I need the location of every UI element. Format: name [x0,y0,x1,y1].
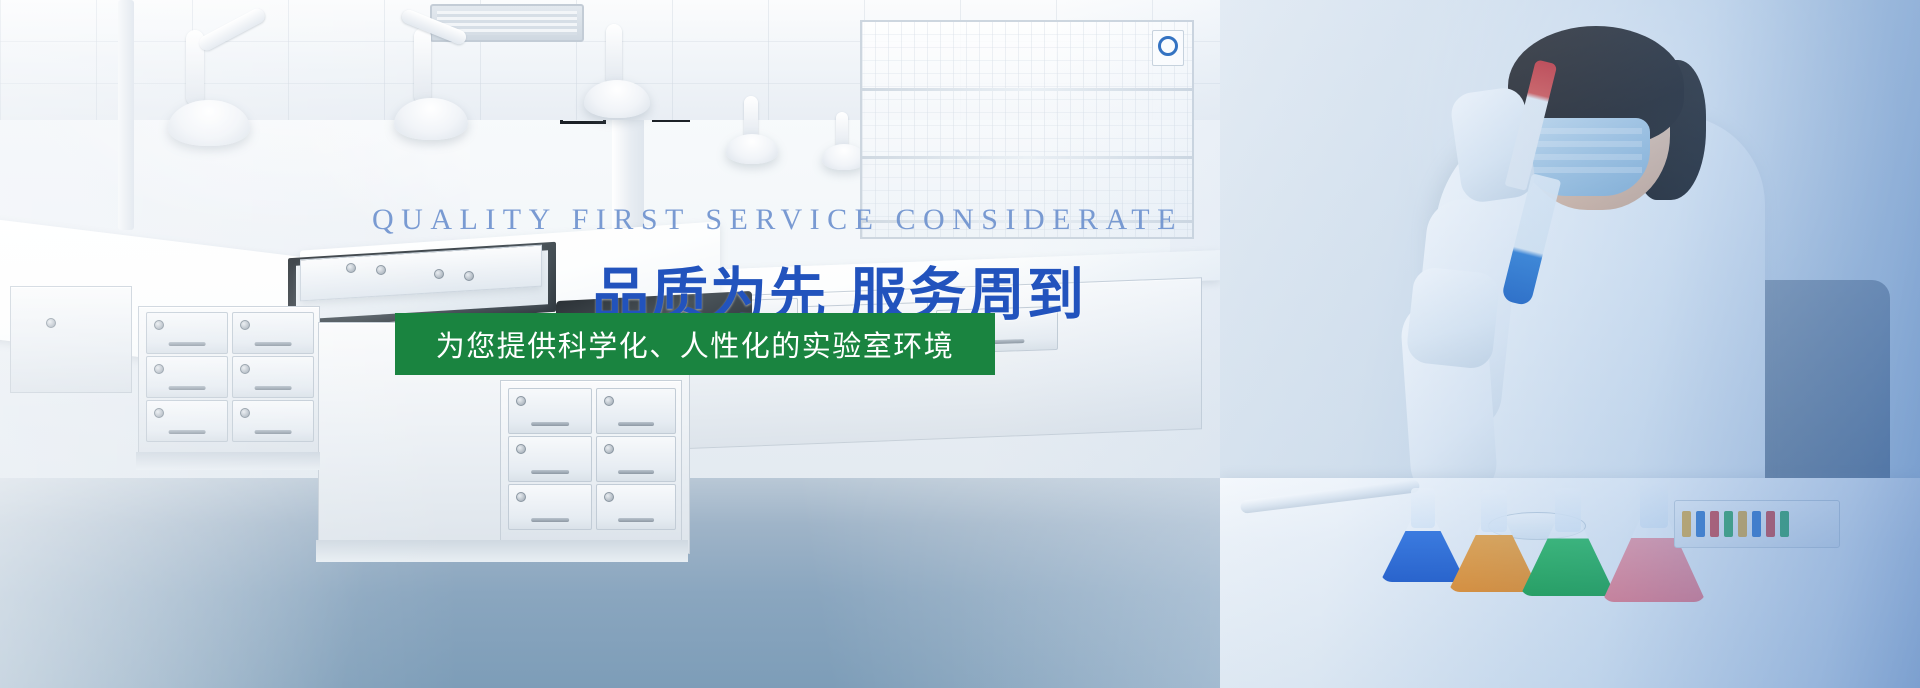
drawer-lock [154,408,164,418]
drawer-lock [516,396,526,406]
vial [1696,511,1705,537]
drawer [596,484,676,530]
vial [1752,511,1761,537]
drawer-lock [604,396,614,406]
banner-subtitle-text: 为您提供科学化、人性化的实验室环境 [436,323,955,365]
drawer [232,400,314,442]
bench-knob [346,263,356,273]
shelf-divider [862,156,1192,159]
flask-pink-neck [1640,482,1668,528]
drawer-lock [516,492,526,502]
drawer-lock [604,444,614,454]
hero-banner: QUALITY FIRST SERVICE CONSIDERATE 品质为先 服… [0,0,1920,688]
drawer [508,388,592,434]
drawer [508,484,592,530]
banner-eyebrow-text: QUALITY FIRST SERVICE CONSIDERATE [372,203,1032,237]
vial [1766,511,1775,537]
bench-knob [376,265,386,275]
drawer-lock [604,492,614,502]
vial-rack [1674,500,1840,548]
flask-orange-neck [1481,490,1507,532]
glove-lower [1405,266,1501,370]
vial [1724,511,1733,537]
drawer [146,312,228,354]
bench-toe-kick [316,540,688,562]
drawer-lock [240,408,250,418]
technician-scene [1220,0,1920,688]
shelf-divider [862,88,1192,91]
drawer [508,436,592,482]
banner-subtitle-bar: 为您提供科学化、人性化的实验室环境 [395,313,995,375]
vial [1710,511,1719,537]
vial [1738,511,1747,537]
drawer [596,388,676,434]
bench-toe-kick [136,452,320,470]
drawer [596,436,676,482]
drawer [146,356,228,398]
drawer [232,356,314,398]
drawer-lock [240,320,250,330]
fume-hood [726,134,778,164]
extraction-arm [414,28,431,104]
drawer-lock [154,320,164,330]
flask-blue-neck [1411,488,1435,528]
drawer-lock [240,364,250,374]
drawer [232,312,314,354]
vial [1682,511,1691,537]
drawer-lock [516,444,526,454]
bench-knob [434,269,444,279]
drawer-lock [154,364,164,374]
drawer [146,400,228,442]
flask-green-neck [1555,488,1581,532]
bench-knob [464,271,474,281]
vial [1780,511,1789,537]
left-cabinet [10,286,132,393]
extraction-arm [606,24,622,86]
ceiling-post [118,0,134,230]
shelf-label-icon [1152,30,1184,66]
cabinet-lock [46,318,56,328]
